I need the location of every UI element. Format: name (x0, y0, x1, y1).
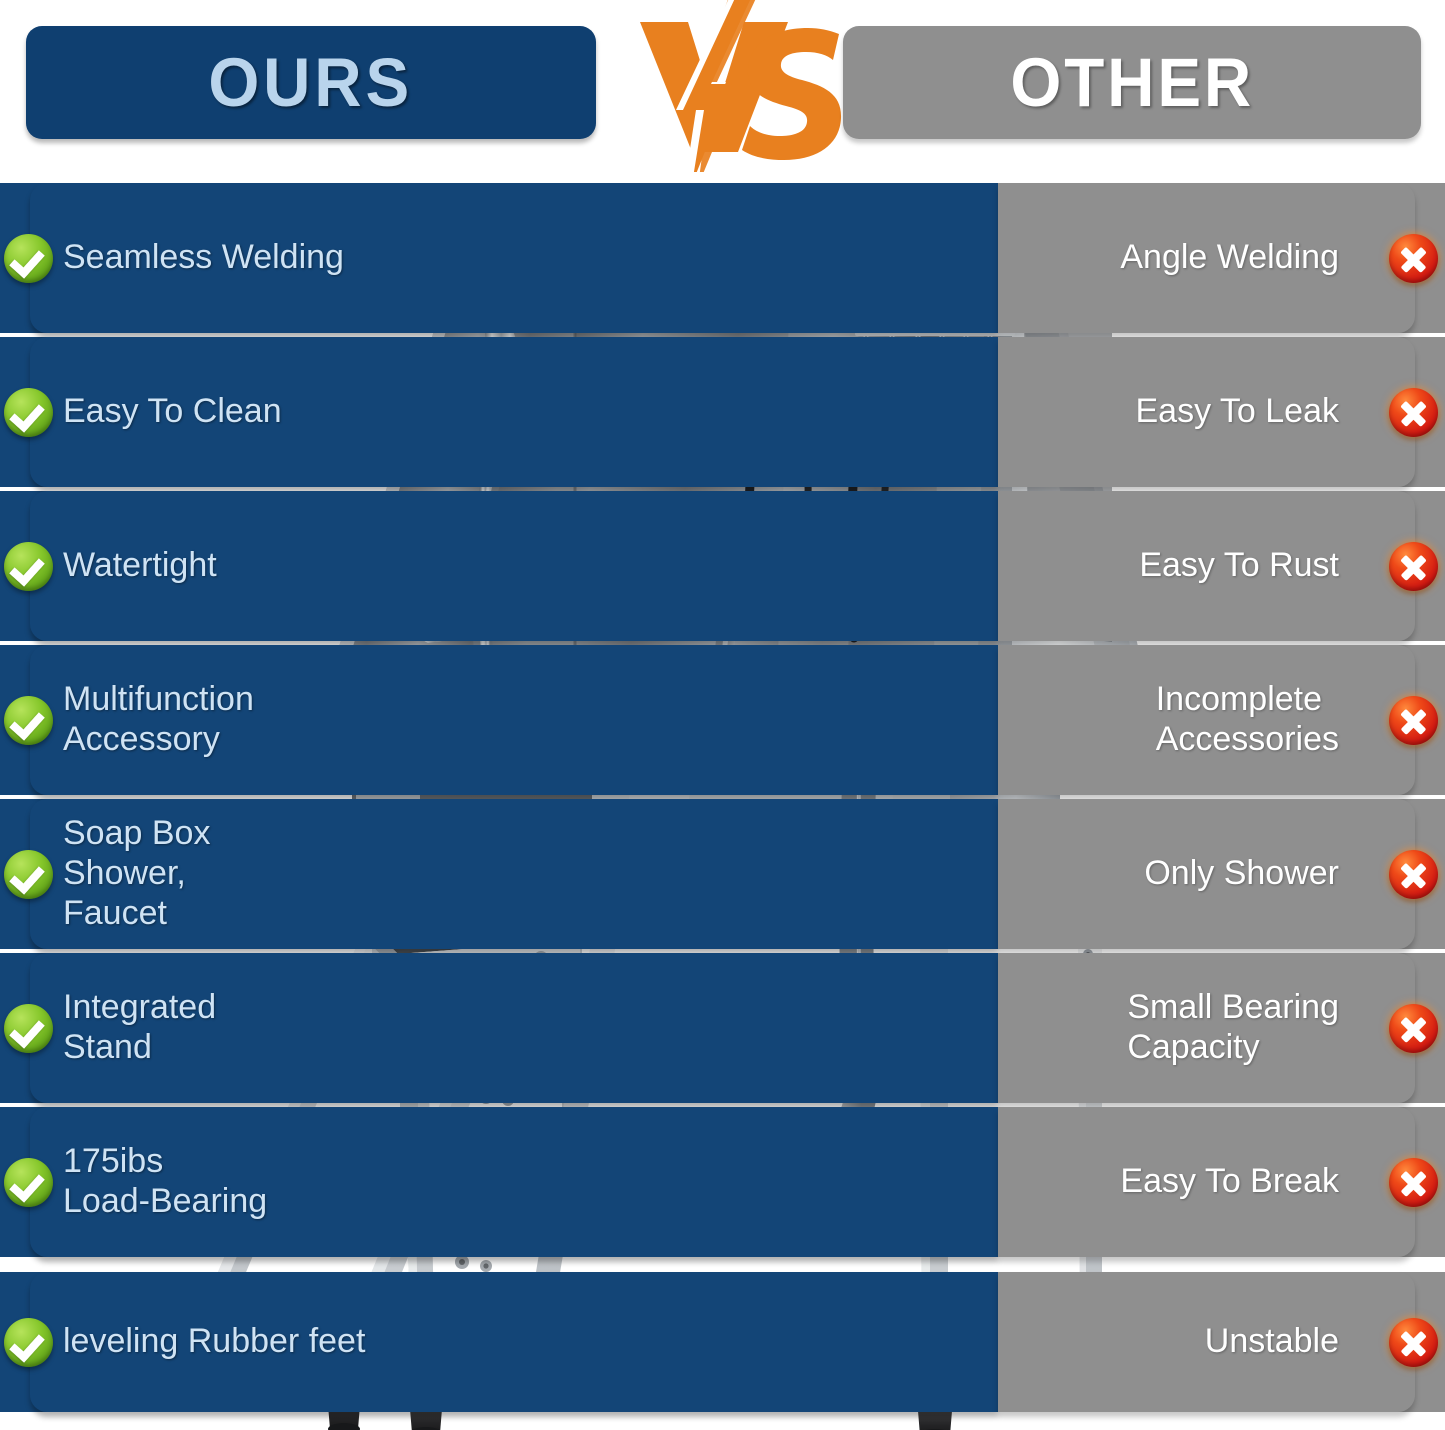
ours-cell-3: Watertight (30, 491, 998, 641)
other-label-3: Easy To Rust (1139, 546, 1339, 586)
ours-label-8: leveling Rubber feet (63, 1322, 365, 1362)
cross-circle-icon (1389, 1004, 1438, 1053)
other-label-1: Angle Welding (1120, 238, 1339, 278)
comparison-row-4: Multifunction Accessory Incomplete Acces… (0, 645, 1445, 795)
header-other-pill: OTHER (843, 26, 1421, 139)
other-cell-3: Easy To Rust (998, 491, 1415, 641)
cross-circle-icon (1389, 234, 1438, 283)
check-circle-icon (4, 1004, 53, 1053)
other-cell-4: Incomplete Accessories (998, 645, 1415, 795)
comparison-row-6: Integrated Stand Small Bearing Capacity (0, 953, 1445, 1103)
other-label-2: Easy To Leak (1135, 392, 1339, 432)
ours-label-5: Soap Box Shower, Faucet (63, 814, 210, 933)
header: OURS OTHER (0, 0, 1445, 172)
ours-cell-1: Seamless Welding (30, 183, 998, 333)
header-ours-label: OURS (209, 43, 414, 122)
comparison-row-8: leveling Rubber feet Unstable (0, 1272, 1445, 1412)
other-label-8: Unstable (1205, 1322, 1339, 1362)
comparison-row-5: Soap Box Shower, Faucet Only Shower (0, 799, 1445, 949)
cross-circle-icon (1389, 1318, 1438, 1367)
header-ours-pill: OURS (26, 26, 596, 139)
ours-cell-4: Multifunction Accessory (30, 645, 998, 795)
ours-label-6: Integrated Stand (63, 988, 216, 1068)
ours-label-4: Multifunction Accessory (63, 680, 254, 760)
cross-circle-icon (1389, 1158, 1438, 1207)
other-cell-5: Only Shower (998, 799, 1415, 949)
other-label-5: Only Shower (1144, 854, 1339, 894)
ours-cell-5: Soap Box Shower, Faucet (30, 799, 998, 949)
vs-icon (612, 0, 842, 172)
header-other-label: OTHER (1010, 43, 1254, 122)
cross-circle-icon (1389, 850, 1438, 899)
check-circle-icon (4, 1318, 53, 1367)
comparison-row-1: Seamless Welding Angle Welding (0, 183, 1445, 333)
other-label-4: Incomplete Accessories (1156, 680, 1339, 760)
comparison-row-2: Easy To Clean Easy To Leak (0, 337, 1445, 487)
ours-cell-7: 175ibs Load-Bearing (30, 1107, 998, 1257)
check-circle-icon (4, 234, 53, 283)
comparison-row-3: Watertight Easy To Rust (0, 491, 1445, 641)
ours-label-1: Seamless Welding (63, 238, 344, 278)
check-circle-icon (4, 850, 53, 899)
ours-cell-2: Easy To Clean (30, 337, 998, 487)
cross-circle-icon (1389, 388, 1438, 437)
ours-cell-6: Integrated Stand (30, 953, 998, 1103)
other-cell-7: Easy To Break (998, 1107, 1415, 1257)
ours-label-7: 175ibs Load-Bearing (63, 1142, 267, 1222)
other-label-6: Small Bearing Capacity (1127, 988, 1339, 1068)
vs-badge (612, 0, 842, 172)
check-circle-icon (4, 388, 53, 437)
check-circle-icon (4, 1158, 53, 1207)
cross-circle-icon (1389, 542, 1438, 591)
comparison-infographic: OURS OTHER (0, 0, 1445, 1430)
other-cell-6: Small Bearing Capacity (998, 953, 1415, 1103)
check-circle-icon (4, 542, 53, 591)
other-cell-1: Angle Welding (998, 183, 1415, 333)
check-circle-icon (4, 696, 53, 745)
ours-cell-8: leveling Rubber feet (30, 1272, 998, 1412)
cross-circle-icon (1389, 696, 1438, 745)
other-cell-2: Easy To Leak (998, 337, 1415, 487)
ours-label-3: Watertight (63, 546, 217, 586)
other-cell-8: Unstable (998, 1272, 1415, 1412)
other-label-7: Easy To Break (1120, 1162, 1339, 1202)
comparison-row-7: 175ibs Load-Bearing Easy To Break (0, 1107, 1445, 1257)
ours-label-2: Easy To Clean (63, 392, 282, 432)
